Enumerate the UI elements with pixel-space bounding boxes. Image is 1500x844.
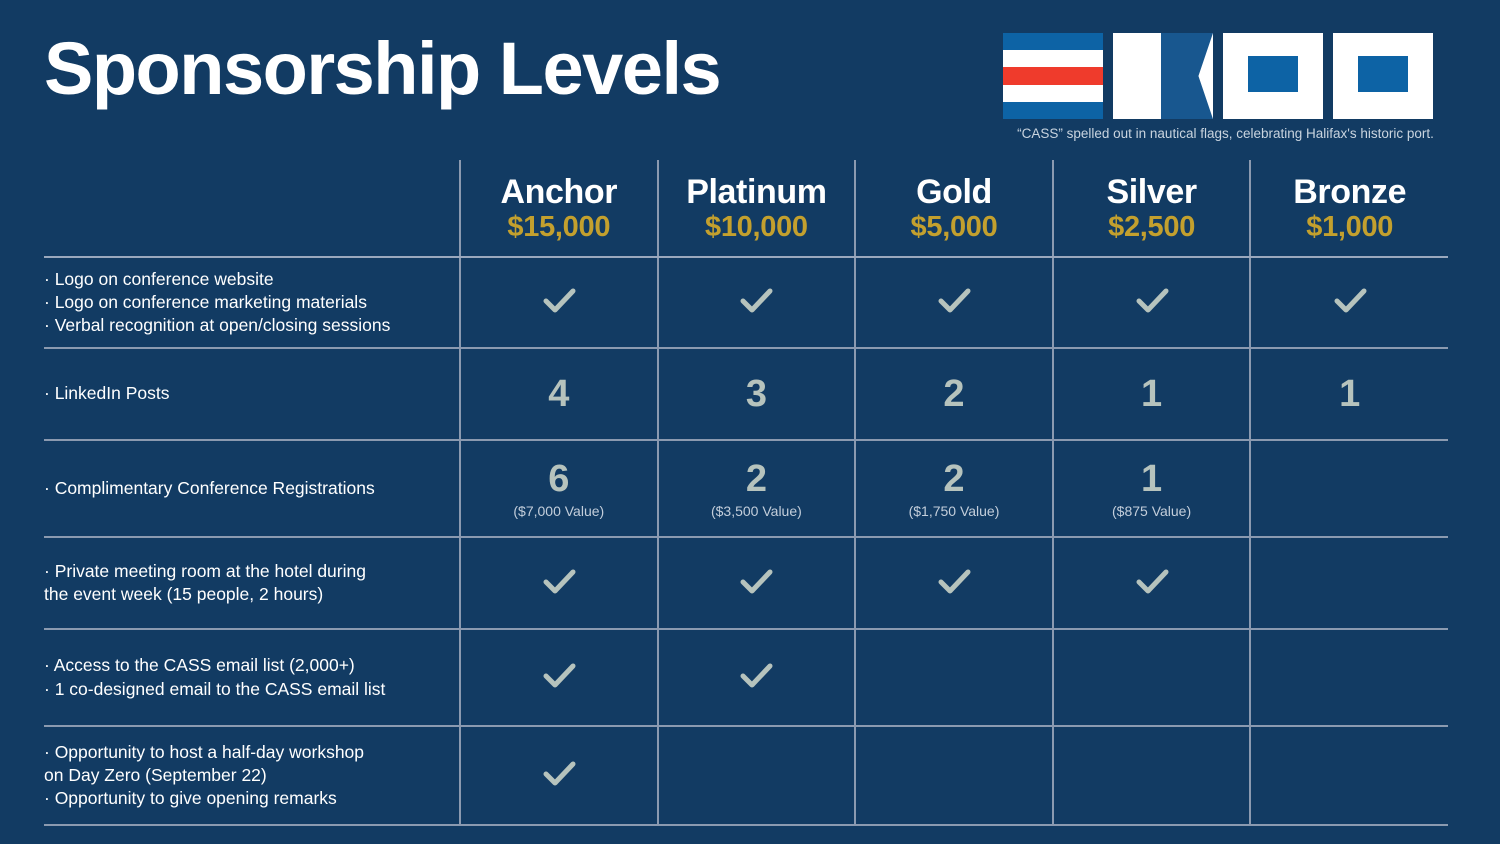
check-icon — [536, 652, 582, 698]
benefit-not-included-cell — [1053, 726, 1251, 825]
tier-header-platinum: Platinum $10,000 — [658, 160, 856, 257]
benefit-line: · LinkedIn Posts — [44, 382, 459, 405]
benefit-not-included-cell — [1250, 629, 1448, 726]
check-icon — [931, 277, 977, 323]
benefit-line: · Opportunity to host a half-day worksho… — [44, 741, 459, 764]
benefit-quantity-cell: 6($7,000 Value) — [460, 440, 658, 537]
benefit-cell: · Opportunity to host a half-day worksho… — [44, 726, 460, 825]
benefit-column-header — [44, 160, 460, 257]
benefit-included-checkmark-icon — [460, 726, 658, 825]
check-icon — [536, 558, 582, 604]
benefit-line: · Logo on conference website — [44, 268, 459, 291]
tier-name: Platinum — [659, 173, 855, 211]
tier-header-anchor: Anchor $15,000 — [460, 160, 658, 257]
benefit-not-included-cell — [658, 726, 856, 825]
tier-price: $15,000 — [461, 211, 657, 243]
slide-header: Sponsorship Levels “CASS” spelled out in… — [0, 0, 1500, 160]
quantity-value: 2 — [746, 460, 767, 498]
table-row: · LinkedIn Posts43211 — [44, 348, 1448, 440]
quantity-value: 2 — [943, 375, 964, 413]
tier-price: $1,000 — [1251, 211, 1448, 243]
table-row: · Opportunity to host a half-day worksho… — [44, 726, 1448, 825]
benefit-line: · Access to the CASS email list (2,000+) — [44, 654, 459, 677]
benefit-included-checkmark-icon — [1250, 257, 1448, 348]
benefit-line: · Opportunity to give opening remarks — [44, 787, 459, 810]
table-row: · Logo on conference website· Logo on co… — [44, 257, 1448, 348]
benefit-included-checkmark-icon — [460, 629, 658, 726]
benefit-included-checkmark-icon — [658, 629, 856, 726]
check-icon — [733, 277, 779, 323]
empty-marker — [1251, 583, 1448, 584]
benefit-included-checkmark-icon — [855, 537, 1053, 629]
table-header: Anchor $15,000 Platinum $10,000 Gold $5,… — [44, 160, 1448, 257]
quantity-value: 4 — [548, 375, 569, 413]
quantity-value-note: ($3,500 Value) — [711, 504, 802, 518]
benefit-not-included-cell — [1250, 726, 1448, 825]
quantity-value: 1 — [1141, 460, 1162, 498]
benefit-quantity-cell: 3 — [658, 348, 856, 440]
empty-marker — [1251, 775, 1448, 776]
empty-marker — [856, 775, 1052, 776]
benefit-not-included-cell — [1250, 440, 1448, 537]
benefit-quantity-cell: 2($1,750 Value) — [855, 440, 1053, 537]
flag-charlie-icon — [1003, 33, 1103, 119]
benefit-included-checkmark-icon — [460, 257, 658, 348]
benefit-cell: · Private meeting room at the hotel duri… — [44, 537, 460, 629]
flag-logo-caption: “CASS” spelled out in nautical flags, ce… — [1003, 126, 1448, 141]
benefit-quantity-cell: 1($875 Value) — [1053, 440, 1251, 537]
table-row: · Private meeting room at the hotel duri… — [44, 537, 1448, 629]
flag-alpha-icon — [1113, 33, 1213, 119]
tier-header-gold: Gold $5,000 — [855, 160, 1053, 257]
check-icon — [733, 652, 779, 698]
tier-price: $2,500 — [1054, 211, 1250, 243]
quantity-value: 2 — [943, 460, 964, 498]
check-icon — [1129, 558, 1175, 604]
benefit-cell: · Logo on conference website· Logo on co… — [44, 257, 460, 348]
quantity-value: 3 — [746, 375, 767, 413]
benefit-line: · Private meeting room at the hotel duri… — [44, 560, 459, 583]
tier-price: $5,000 — [856, 211, 1052, 243]
table-body: · Logo on conference website· Logo on co… — [44, 257, 1448, 825]
empty-marker — [659, 775, 855, 776]
check-icon — [733, 558, 779, 604]
benefit-included-checkmark-icon — [658, 257, 856, 348]
sponsorship-levels-table: Anchor $15,000 Platinum $10,000 Gold $5,… — [44, 160, 1448, 826]
quantity-value-note: ($7,000 Value) — [513, 504, 604, 518]
check-icon — [536, 750, 582, 796]
empty-marker — [1251, 488, 1448, 489]
check-icon — [1327, 277, 1373, 323]
benefit-line: · Complimentary Conference Registrations — [44, 477, 459, 500]
quantity-value: 1 — [1141, 375, 1162, 413]
benefit-quantity-cell: 1 — [1053, 348, 1251, 440]
benefit-included-checkmark-icon — [658, 537, 856, 629]
benefit-included-checkmark-icon — [1053, 537, 1251, 629]
tier-header-row: Anchor $15,000 Platinum $10,000 Gold $5,… — [44, 160, 1448, 257]
page-title: Sponsorship Levels — [44, 32, 720, 106]
flag-sierra-icon-1 — [1223, 33, 1323, 119]
nautical-flag-logo — [1003, 33, 1433, 119]
benefit-line: the event week (15 people, 2 hours) — [44, 583, 459, 606]
benefit-included-checkmark-icon — [1053, 257, 1251, 348]
table-row: · Complimentary Conference Registrations… — [44, 440, 1448, 537]
benefit-not-included-cell — [1250, 537, 1448, 629]
tier-header-silver: Silver $2,500 — [1053, 160, 1251, 257]
empty-marker — [1251, 677, 1448, 678]
tier-price: $10,000 — [659, 211, 855, 243]
benefit-included-checkmark-icon — [855, 257, 1053, 348]
benefit-line: on Day Zero (September 22) — [44, 764, 459, 787]
empty-marker — [856, 677, 1052, 678]
quantity-value: 1 — [1339, 375, 1360, 413]
benefit-quantity-cell: 4 — [460, 348, 658, 440]
benefit-not-included-cell — [855, 726, 1053, 825]
check-icon — [536, 277, 582, 323]
benefit-quantity-cell: 1 — [1250, 348, 1448, 440]
flag-sierra-icon-2 — [1333, 33, 1433, 119]
benefit-included-checkmark-icon — [460, 537, 658, 629]
benefit-cell: · Complimentary Conference Registrations — [44, 440, 460, 537]
quantity-value-note: ($1,750 Value) — [909, 504, 1000, 518]
tier-name: Silver — [1054, 173, 1250, 211]
benefit-line: · 1 co-designed email to the CASS email … — [44, 678, 459, 701]
benefit-quantity-cell: 2 — [855, 348, 1053, 440]
benefit-quantity-cell: 2($3,500 Value) — [658, 440, 856, 537]
benefit-not-included-cell — [1053, 629, 1251, 726]
tier-name: Bronze — [1251, 173, 1448, 211]
tier-header-bronze: Bronze $1,000 — [1250, 160, 1448, 257]
benefit-line: · Logo on conference marketing materials — [44, 291, 459, 314]
tier-name: Gold — [856, 173, 1052, 211]
benefit-cell: · Access to the CASS email list (2,000+)… — [44, 629, 460, 726]
benefit-not-included-cell — [855, 629, 1053, 726]
quantity-value-note: ($875 Value) — [1112, 504, 1191, 518]
tier-name: Anchor — [461, 173, 657, 211]
benefit-cell: · LinkedIn Posts — [44, 348, 460, 440]
quantity-value: 6 — [548, 460, 569, 498]
empty-marker — [1054, 775, 1250, 776]
check-icon — [931, 558, 977, 604]
empty-marker — [1054, 677, 1250, 678]
check-icon — [1129, 277, 1175, 323]
benefit-line: · Verbal recognition at open/closing ses… — [44, 314, 459, 337]
table-row: · Access to the CASS email list (2,000+)… — [44, 629, 1448, 726]
